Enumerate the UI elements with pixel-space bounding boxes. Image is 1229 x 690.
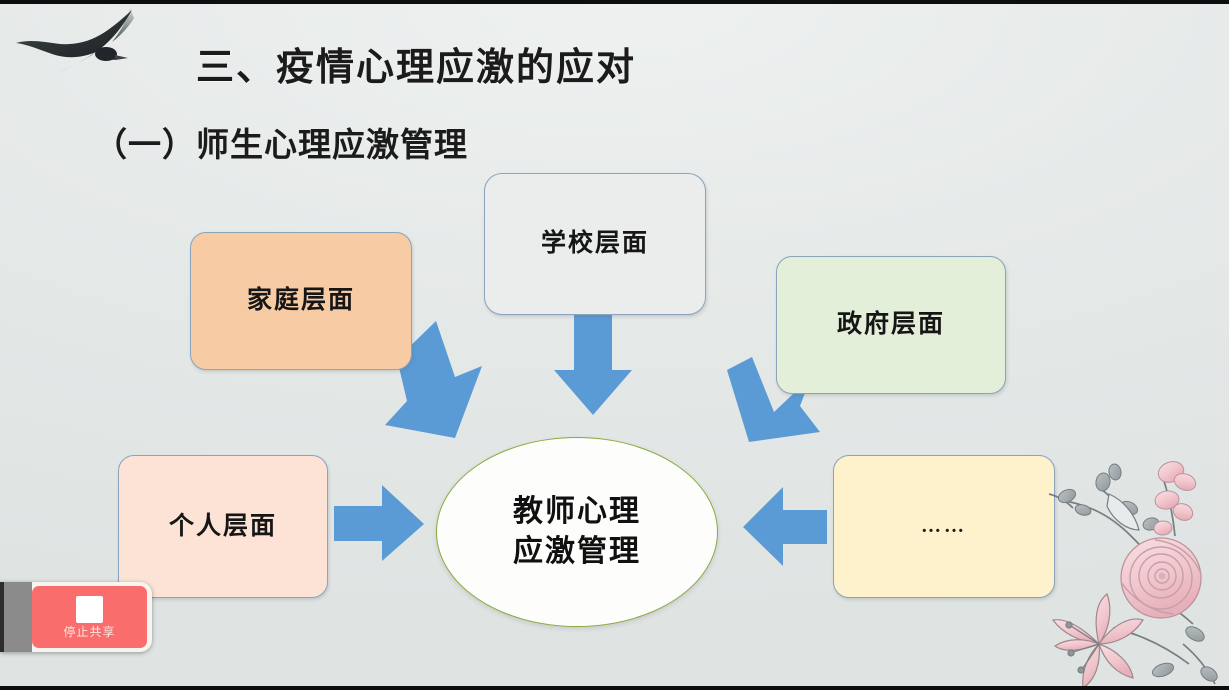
slide-screen: 三、疫情心理应激的应对 （一）师生心理应激管理 家庭层面 学校层面 政府层面 — [0, 0, 1229, 690]
node-other-label: …… — [921, 514, 967, 539]
capture-edge-top — [0, 0, 1229, 4]
screen-share-control[interactable]: 停止共享 — [0, 582, 152, 652]
node-personal-label: 个人层面 — [169, 511, 277, 542]
node-family-label: 家庭层面 — [247, 285, 355, 316]
node-center-label: 教师心理应激管理 — [513, 492, 641, 571]
stop-share-label: 停止共享 — [63, 626, 115, 638]
node-government-level[interactable]: 政府层面 — [776, 256, 1006, 394]
node-center-teacher-stress-management[interactable]: 教师心理应激管理 — [436, 437, 718, 627]
stop-square-icon — [76, 596, 103, 623]
page-subtitle: （一）师生心理应激管理 — [94, 118, 468, 166]
drag-handle-icon[interactable] — [0, 582, 32, 652]
capture-edge-bottom — [0, 686, 1229, 690]
stop-share-button[interactable]: 停止共享 — [32, 586, 147, 648]
flying-bird-icon — [8, 2, 168, 102]
node-family-level[interactable]: 家庭层面 — [190, 232, 412, 370]
node-school-label: 学校层面 — [541, 228, 649, 259]
node-other-level[interactable]: …… — [833, 455, 1055, 598]
node-government-label: 政府层面 — [837, 309, 945, 340]
node-center-label-line2: 应激管理 — [513, 535, 641, 568]
node-center-label-line1: 教师心理 — [513, 495, 641, 528]
node-personal-level[interactable]: 个人层面 — [118, 455, 328, 598]
floral-branch-decoration — [1043, 438, 1229, 690]
page-title: 三、疫情心理应激的应对 — [196, 36, 636, 91]
node-school-level[interactable]: 学校层面 — [484, 173, 706, 315]
